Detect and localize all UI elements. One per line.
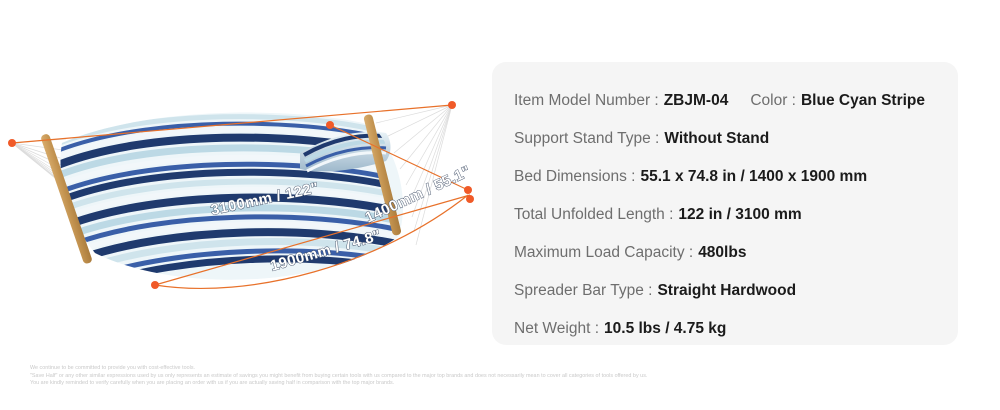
spec-label-bed-dimensions: Bed Dimensions : bbox=[514, 168, 635, 186]
spec-value-item-model-number: ZBJM-04 bbox=[664, 92, 729, 110]
disclaimer-block: We continue to be committed to provide y… bbox=[30, 365, 970, 388]
spec-row-bed-dimensions: Bed Dimensions : 55.1 x 74.8 in / 1400 x… bbox=[514, 158, 958, 196]
spec-row-total-unfolded-length: Total Unfolded Length : 122 in / 3100 mm bbox=[514, 196, 958, 234]
spec-row-maximum-load-capacity: Maximum Load Capacity : 480lbs bbox=[514, 234, 958, 272]
spec-value-spreader-bar-type: Straight Hardwood bbox=[657, 282, 796, 300]
spec-row-support-stand-type: Support Stand Type : Without Stand bbox=[514, 120, 958, 158]
spec-value-bed-dimensions: 55.1 x 74.8 in / 1400 x 1900 mm bbox=[640, 168, 867, 186]
spec-value-color: Blue Cyan Stripe bbox=[801, 92, 925, 110]
specification-panel: Item Model Number : ZBJM-04 Color : Blue… bbox=[492, 62, 958, 345]
spec-label-color: Color : bbox=[750, 92, 796, 110]
disclaimer-line-3: You are kindly reminded to verify carefu… bbox=[30, 380, 970, 388]
spec-value-maximum-load-capacity: 480lbs bbox=[698, 244, 746, 262]
disclaimer-line-1: We continue to be committed to provide y… bbox=[30, 365, 970, 373]
spec-value-total-unfolded-length: 122 in / 3100 mm bbox=[678, 206, 801, 224]
spec-label-item-model-number: Item Model Number : bbox=[514, 92, 659, 110]
spec-row-spreader-bar-type: Spreader Bar Type : Straight Hardwood bbox=[514, 272, 958, 310]
product-spec-page: 1400mm / 55.1" 3100mm / 122" 1900mm / 74… bbox=[0, 0, 1000, 410]
spec-row-item-model-number: Item Model Number : ZBJM-04 Color : Blue… bbox=[514, 82, 958, 120]
product-image: 1400mm / 55.1" 3100mm / 122" 1900mm / 74… bbox=[0, 95, 500, 310]
spec-row-net-weight: Net Weight : 10.5 lbs / 4.75 kg bbox=[514, 310, 958, 348]
spec-label-maximum-load-capacity: Maximum Load Capacity : bbox=[514, 244, 693, 262]
spec-label-support-stand-type: Support Stand Type : bbox=[514, 130, 659, 148]
spec-value-net-weight: 10.5 lbs / 4.75 kg bbox=[604, 320, 726, 338]
spec-value-support-stand-type: Without Stand bbox=[664, 130, 769, 148]
spec-label-total-unfolded-length: Total Unfolded Length : bbox=[514, 206, 673, 224]
disclaimer-line-2: "Save Half" or any other similar express… bbox=[30, 373, 970, 381]
spec-label-net-weight: Net Weight : bbox=[514, 320, 599, 338]
specification-list: Item Model Number : ZBJM-04 Color : Blue… bbox=[514, 82, 958, 348]
spec-label-spreader-bar-type: Spreader Bar Type : bbox=[514, 282, 652, 300]
